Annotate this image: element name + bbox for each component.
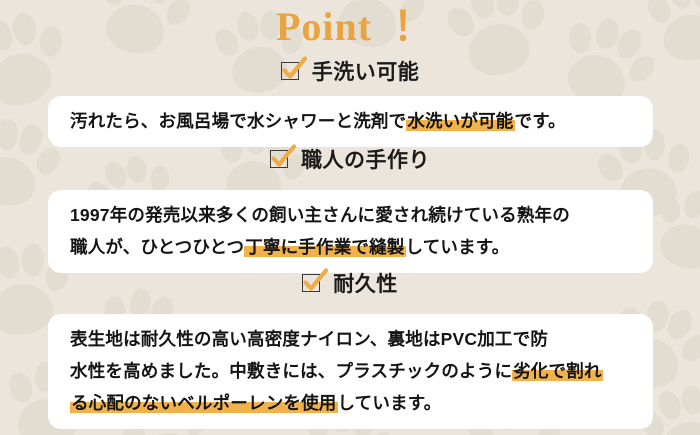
feature-text-line: 水性を高めました。中敷きには、プラスチックのように劣化で割れ	[70, 355, 633, 387]
feature-text-line: る心配のないベルポーレンを使用しています。	[70, 387, 633, 419]
feature-card-1: 汚れたら、お風呂場で水シャワーと洗剤で水洗いが可能です。	[48, 96, 653, 147]
body-text: 汚れたら、お風呂場で水シャワーと洗剤で	[70, 111, 406, 131]
feature-heading-label: 手洗い可能	[312, 58, 420, 88]
feature-heading-label: 耐久性	[333, 270, 398, 300]
feature-heading-3: 耐久性	[0, 270, 700, 300]
feature-card-2: 1997年の発売以来多くの飼い主さんに愛され続けている熟年の職人が、ひとつひとつ…	[48, 190, 653, 273]
page-title: Point ！	[0, 2, 700, 52]
checkbox-checked-icon	[270, 150, 290, 170]
checkbox-checked-icon	[302, 274, 322, 294]
body-text: しています。	[338, 393, 442, 413]
checkbox-checked-icon	[281, 62, 301, 82]
highlighted-text: 劣化で割れ	[512, 361, 603, 381]
feature-card-3: 表生地は耐久性の高い高密度ナイロン、裏地はPVC加工で防水性を高めました。中敷き…	[48, 314, 653, 429]
highlighted-text: 丁寧に手作業で縫製	[244, 237, 405, 257]
body-text: しています。	[406, 237, 510, 257]
point-feature-panel: Point ！ 手洗い可能 汚れたら、お風呂場で水シャワーと洗剤で水洗いが可能で…	[0, 0, 700, 435]
body-text: 職人が、ひとつひとつ	[70, 237, 244, 257]
feature-heading-2: 職人の手作り	[0, 146, 700, 176]
feature-text-line: 1997年の発売以来多くの飼い主さんに愛され続けている熟年の	[70, 199, 633, 231]
body-text: 水性を高めました。中敷きには、プラスチックのように	[70, 361, 512, 381]
feature-text-line: 表生地は耐久性の高い高密度ナイロン、裏地はPVC加工で防	[70, 323, 633, 355]
body-text: 表生地は耐久性の高い高密度ナイロン、裏地はPVC加工で防	[70, 329, 548, 349]
body-text: です。	[515, 111, 566, 131]
feature-text-line: 汚れたら、お風呂場で水シャワーと洗剤で水洗いが可能です。	[70, 105, 633, 137]
content-layer: Point ！ 手洗い可能 汚れたら、お風呂場で水シャワーと洗剤で水洗いが可能で…	[0, 0, 700, 435]
feature-heading-1: 手洗い可能	[0, 58, 700, 88]
body-text: 1997年の発売以来多くの飼い主さんに愛され続けている熟年の	[70, 205, 570, 225]
feature-heading-label: 職人の手作り	[301, 146, 430, 176]
feature-text-line: 職人が、ひとつひとつ丁寧に手作業で縫製しています。	[70, 231, 633, 263]
highlighted-text: る心配のないベルポーレンを使用	[70, 393, 338, 413]
highlighted-text: 水洗いが可能	[406, 111, 514, 131]
